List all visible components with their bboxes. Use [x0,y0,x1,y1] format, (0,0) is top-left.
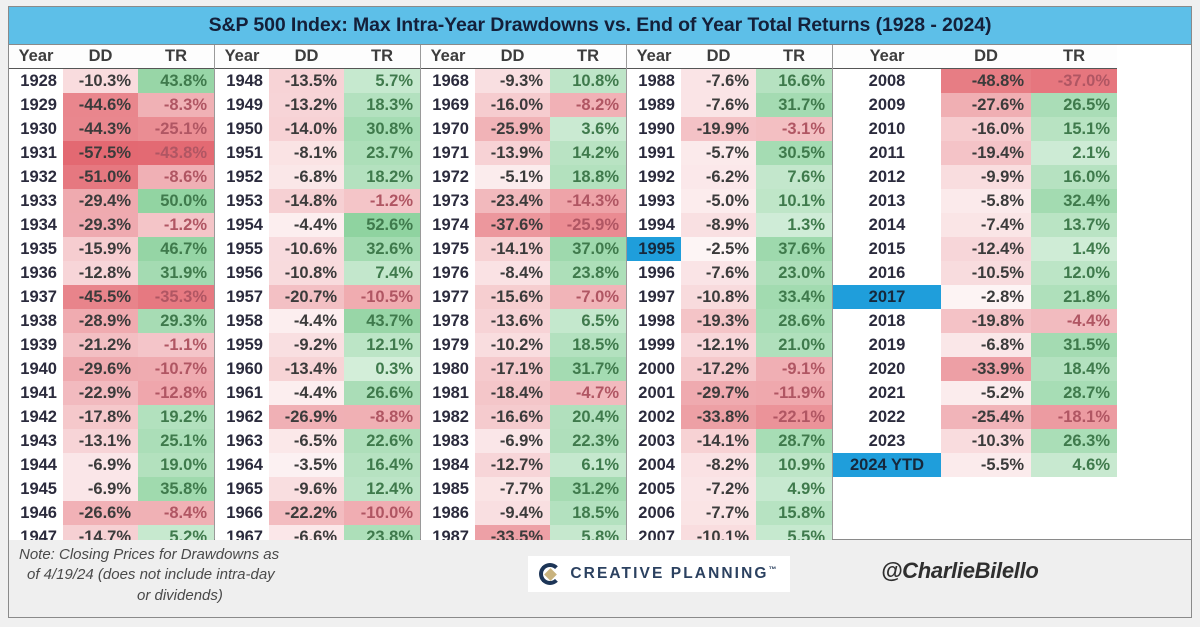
table-row[interactable]: 1952-6.8%18.2% [215,165,420,189]
year-cell: 1971 [421,141,475,165]
table-row[interactable]: 1938-28.9%29.3% [9,309,214,333]
table-row[interactable]: 1928-10.3%43.8% [9,69,214,93]
drawdown-cell: -15.9% [63,237,138,261]
table-row[interactable]: 2003-14.1%28.7% [627,429,832,453]
table-row[interactable]: 2006-7.7%15.8% [627,501,832,525]
total-return-cell: 1.3% [756,213,832,237]
year-cell: 1972 [421,165,475,189]
table-row[interactable]: 1997-10.8%33.4% [627,285,832,309]
year-cell: 2014 [833,213,941,237]
column-header-tr: TR [550,45,626,68]
year-cell: 2015 [833,237,941,261]
year-cell: 1985 [421,477,475,501]
table-row[interactable]: 1992-6.2%7.6% [627,165,832,189]
year-cell: 1991 [627,141,681,165]
table-row[interactable]: 1986-9.4%18.5% [421,501,626,525]
drawdown-cell: -4.4% [269,213,344,237]
drawdown-cell: -33.9% [941,357,1031,381]
table-row[interactable]: 1942-17.8%19.2% [9,405,214,429]
total-return-cell: 19.0% [138,453,214,477]
drawdown-cell: -29.6% [63,357,138,381]
total-return-cell: 16.0% [1031,165,1117,189]
drawdown-cell: -26.9% [269,405,344,429]
drawdown-cell: -13.1% [63,429,138,453]
table-row[interactable]: 1977-15.6%-7.0% [421,285,626,309]
drawdown-cell: -19.4% [941,141,1031,165]
drawdown-cell: -27.6% [941,93,1031,117]
drawdown-cell: -17.8% [63,405,138,429]
drawdown-cell: -12.8% [63,261,138,285]
column-header-dd: DD [63,45,138,68]
year-cell: 1999 [627,333,681,357]
table-row[interactable]: 1951-8.1%23.7% [215,141,420,165]
total-return-cell: 15.1% [1031,117,1117,141]
drawdown-cell: -19.9% [681,117,756,141]
total-return-cell: 31.5% [1031,333,1117,357]
year-cell: 1943 [9,429,63,453]
drawdown-cell: -6.9% [475,429,550,453]
table-row[interactable]: 2012-9.9%16.0% [833,165,1117,189]
year-cell: 1935 [9,237,63,261]
table-row[interactable]: 2004-8.2%10.9% [627,453,832,477]
drawdown-cell: -5.7% [681,141,756,165]
table-row[interactable]: 1958-4.4%43.7% [215,309,420,333]
table-row[interactable]: 1973-23.4%-14.3% [421,189,626,213]
drawdown-cell: -33.8% [681,405,756,429]
year-cell: 1988 [627,69,681,93]
table-row[interactable]: 1988-7.6%16.6% [627,69,832,93]
table-row[interactable]: 1980-17.1%31.7% [421,357,626,381]
year-cell: 1968 [421,69,475,93]
year-cell: 1950 [215,117,269,141]
table-header-row: YearDDTR [627,45,832,69]
table-row[interactable]: 1998-19.3%28.6% [627,309,832,333]
year-cell: 1973 [421,189,475,213]
page-title: S&P 500 Index: Max Intra-Year Drawdowns … [209,14,992,37]
total-return-cell: 37.0% [550,237,626,261]
table-row[interactable]: 2015-12.4%1.4% [833,237,1117,261]
table-row[interactable]: 2018-19.8%-4.4% [833,309,1117,333]
total-return-cell: 31.7% [756,93,832,117]
year-cell: 1986 [421,501,475,525]
table-row[interactable]: 1944-6.9%19.0% [9,453,214,477]
total-return-cell: -14.3% [550,189,626,213]
total-return-cell: 26.5% [1031,93,1117,117]
table-row[interactable]: 2017-2.8%21.8% [833,285,1117,309]
year-cell: 1953 [215,189,269,213]
drawdown-cell: -10.3% [63,69,138,93]
table-row[interactable]: 1970-25.9%3.6% [421,117,626,141]
table-row[interactable]: 2002-33.8%-22.1% [627,405,832,429]
table-row[interactable]: 1940-29.6%-10.7% [9,357,214,381]
table-row[interactable]: 1979-10.2%18.5% [421,333,626,357]
table-row[interactable]: 1962-26.9%-8.8% [215,405,420,429]
total-return-cell: 12.0% [1031,261,1117,285]
year-cell: 1998 [627,309,681,333]
table-row[interactable]: 2023-10.3%26.3% [833,429,1117,453]
table-row[interactable]: 2011-19.4%2.1% [833,141,1117,165]
creative-planning-logo-text: CREATIVE PLANNING™ [570,565,778,583]
year-cell: 1978 [421,309,475,333]
table-row[interactable]: 1985-7.7%31.2% [421,477,626,501]
drawdown-cell: -16.0% [475,93,550,117]
drawdown-cell: -5.8% [941,189,1031,213]
table-block: YearDDTR2008-48.8%-37.0%2009-27.6%26.5%2… [833,45,1117,539]
total-return-cell: 18.5% [550,501,626,525]
drawdown-cell: -5.5% [941,453,1031,477]
table-block: YearDDTR1968-9.3%10.8%1969-16.0%-8.2%197… [421,45,627,539]
year-cell: 1970 [421,117,475,141]
total-return-cell: -22.1% [756,405,832,429]
total-return-cell: 43.8% [138,69,214,93]
total-return-cell: -7.0% [550,285,626,309]
total-return-cell: 23.7% [344,141,420,165]
table-row[interactable]: 2021-5.2%28.7% [833,381,1117,405]
total-return-cell: 29.3% [138,309,214,333]
total-return-cell: 3.6% [550,117,626,141]
year-cell: 2023 [833,429,941,453]
year-cell: 1989 [627,93,681,117]
table-row[interactable]: 1945-6.9%35.8% [9,477,214,501]
year-cell: 1932 [9,165,63,189]
year-cell: 1938 [9,309,63,333]
year-cell: 1954 [215,213,269,237]
drawdown-cell: -14.8% [269,189,344,213]
total-return-cell: -1.2% [344,189,420,213]
table-row[interactable]: 1941-22.9%-12.8% [9,381,214,405]
total-return-cell: 21.8% [1031,285,1117,309]
table-row[interactable]: 1963-6.5%22.6% [215,429,420,453]
total-return-cell: 10.8% [550,69,626,93]
table-row[interactable]: 2024 YTD-5.5%4.6% [833,453,1117,477]
year-cell: 1966 [215,501,269,525]
total-return-cell: 14.2% [550,141,626,165]
total-return-cell: -9.1% [756,357,832,381]
total-return-cell: -35.3% [138,285,214,309]
total-return-cell: 50.0% [138,189,214,213]
year-cell: 1939 [9,333,63,357]
year-cell: 1996 [627,261,681,285]
column-header-year: Year [833,45,941,68]
table-row[interactable]: 1969-16.0%-8.2% [421,93,626,117]
drawdown-cell: -19.3% [681,309,756,333]
drawdown-cell: -29.4% [63,189,138,213]
drawdown-cell: -17.1% [475,357,550,381]
table-row[interactable]: 1995-2.5%37.6% [627,237,832,261]
column-header-tr: TR [756,45,832,68]
total-return-cell: 52.6% [344,213,420,237]
year-cell: 2020 [833,357,941,381]
year-cell: 2010 [833,117,941,141]
chart-title-bar: S&P 500 Index: Max Intra-Year Drawdowns … [8,6,1192,44]
drawdown-cell: -26.6% [63,501,138,525]
drawdown-cell: -45.5% [63,285,138,309]
drawdown-cell: -14.1% [681,429,756,453]
drawdown-cell: -22.9% [63,381,138,405]
year-cell: 1944 [9,453,63,477]
total-return-cell: 20.4% [550,405,626,429]
total-return-cell: 28.7% [1031,381,1117,405]
column-header-year: Year [627,45,681,68]
total-return-cell: 13.7% [1031,213,1117,237]
table-row[interactable]: 1934-29.3%-1.2% [9,213,214,237]
table-row[interactable]: 1959-9.2%12.1% [215,333,420,357]
year-cell: 2006 [627,501,681,525]
table-row[interactable]: 1936-12.8%31.9% [9,261,214,285]
chart-footer: Note: Closing Prices for Drawdowns as of… [8,540,1192,618]
drawdown-cell: -22.2% [269,501,344,525]
table-block: YearDDTR1988-7.6%16.6%1989-7.6%31.7%1990… [627,45,833,539]
table-row[interactable]: 2008-48.8%-37.0% [833,69,1117,93]
year-cell: 1946 [9,501,63,525]
table-row[interactable]: 2014-7.4%13.7% [833,213,1117,237]
total-return-cell: 19.2% [138,405,214,429]
total-return-cell: 18.5% [550,333,626,357]
table-row[interactable]: 1974-37.6%-25.9% [421,213,626,237]
year-cell: 1937 [9,285,63,309]
drawdown-cell: -9.6% [269,477,344,501]
drawdown-cell: -5.2% [941,381,1031,405]
table-row[interactable]: 1931-57.5%-43.8% [9,141,214,165]
total-return-cell: 23.0% [756,261,832,285]
drawdown-cell: -14.0% [269,117,344,141]
total-return-cell: -8.8% [344,405,420,429]
year-cell-highlighted: 1995 [627,237,681,261]
table-header-row: YearDDTR [833,45,1117,69]
total-return-cell: 43.7% [344,309,420,333]
drawdown-cell: -8.2% [681,453,756,477]
table-row[interactable]: 1982-16.6%20.4% [421,405,626,429]
table-row[interactable]: 1990-19.9%-3.1% [627,117,832,141]
year-cell: 1942 [9,405,63,429]
total-return-cell: 46.7% [138,237,214,261]
drawdown-cell: -12.1% [681,333,756,357]
table-row[interactable]: 1993-5.0%10.1% [627,189,832,213]
drawdown-cell: -25.4% [941,405,1031,429]
drawdown-cell: -16.6% [475,405,550,429]
year-cell: 1980 [421,357,475,381]
table-row[interactable]: 1960-13.4%0.3% [215,357,420,381]
drawdown-cell: -13.5% [269,69,344,93]
table-row[interactable]: 2013-5.8%32.4% [833,189,1117,213]
year-cell: 2001 [627,381,681,405]
year-cell: 2008 [833,69,941,93]
drawdown-cell: -7.6% [681,93,756,117]
year-cell: 2005 [627,477,681,501]
table-row[interactable]: 1991-5.7%30.5% [627,141,832,165]
table-row[interactable]: 2016-10.5%12.0% [833,261,1117,285]
trademark-mark: ™ [769,565,779,574]
year-cell: 1963 [215,429,269,453]
total-return-cell: 7.6% [756,165,832,189]
table-row[interactable]: 1978-13.6%6.5% [421,309,626,333]
table-row[interactable]: 1950-14.0%30.8% [215,117,420,141]
year-cell: 1964 [215,453,269,477]
total-return-cell: 6.5% [550,309,626,333]
table-row[interactable]: 2001-29.7%-11.9% [627,381,832,405]
drawdown-cell: -37.6% [475,213,550,237]
table-row[interactable]: 1972-5.1%18.8% [421,165,626,189]
block-filler [833,477,1117,539]
drawdown-cell: -8.4% [475,261,550,285]
total-return-cell: 23.8% [550,261,626,285]
table-row[interactable]: 1971-13.9%14.2% [421,141,626,165]
table-row[interactable]: 1933-29.4%50.0% [9,189,214,213]
table-row[interactable]: 1955-10.6%32.6% [215,237,420,261]
year-cell: 1948 [215,69,269,93]
drawdown-cell: -9.9% [941,165,1031,189]
table-row[interactable]: 1994-8.9%1.3% [627,213,832,237]
year-cell: 2019 [833,333,941,357]
table-row[interactable]: 1943-13.1%25.1% [9,429,214,453]
total-return-cell: 30.8% [344,117,420,141]
drawdown-cell: -3.5% [269,453,344,477]
year-cell: 1934 [9,213,63,237]
drawdown-cell: -10.8% [269,261,344,285]
table-row[interactable]: 1937-45.5%-35.3% [9,285,214,309]
table-row[interactable]: 1964-3.5%16.4% [215,453,420,477]
drawdown-cell: -48.8% [941,69,1031,93]
table-row[interactable]: 1976-8.4%23.8% [421,261,626,285]
total-return-cell: 18.2% [344,165,420,189]
creative-planning-mark-icon [539,563,561,585]
total-return-cell: 37.6% [756,237,832,261]
year-cell: 2002 [627,405,681,429]
drawdown-cell: -16.0% [941,117,1031,141]
year-cell-highlighted: 2024 YTD [833,453,941,477]
total-return-cell: 31.9% [138,261,214,285]
drawdown-cell: -13.9% [475,141,550,165]
table-row[interactable]: 1949-13.2%18.3% [215,93,420,117]
total-return-cell: 1.4% [1031,237,1117,261]
total-return-cell: -4.7% [550,381,626,405]
total-return-cell: 10.1% [756,189,832,213]
table-row[interactable]: 1946-26.6%-8.4% [9,501,214,525]
total-return-cell: -25.9% [550,213,626,237]
total-return-cell: 30.5% [756,141,832,165]
drawdown-cell: -10.3% [941,429,1031,453]
year-cell: 1936 [9,261,63,285]
drawdown-cell: -19.8% [941,309,1031,333]
table-row[interactable]: 1968-9.3%10.8% [421,69,626,93]
drawdown-cell: -7.7% [475,477,550,501]
table-row[interactable]: 2009-27.6%26.5% [833,93,1117,117]
table-row[interactable]: 1966-22.2%-10.0% [215,501,420,525]
table-row[interactable]: 1954-4.4%52.6% [215,213,420,237]
table-row[interactable]: 2019-6.8%31.5% [833,333,1117,357]
table-row[interactable]: 1948-13.5%5.7% [215,69,420,93]
table-row[interactable]: 1983-6.9%22.3% [421,429,626,453]
drawdown-cell: -4.4% [269,381,344,405]
drawdown-cell: -17.2% [681,357,756,381]
drawdown-cell: -9.3% [475,69,550,93]
total-return-cell: -1.2% [138,213,214,237]
year-cell: 2000 [627,357,681,381]
table-header-row: YearDDTR [9,45,214,69]
drawdown-cell: -7.7% [681,501,756,525]
drawdown-cell: -6.5% [269,429,344,453]
drawdown-cell: -2.8% [941,285,1031,309]
table-row[interactable]: 1984-12.7%6.1% [421,453,626,477]
column-header-year: Year [215,45,269,68]
year-cell: 2009 [833,93,941,117]
year-cell: 2011 [833,141,941,165]
year-cell: 1992 [627,165,681,189]
drawdown-cell: -14.1% [475,237,550,261]
year-cell: 1977 [421,285,475,309]
creative-planning-logo: CREATIVE PLANNING™ [528,556,790,592]
drawdown-cell: -20.7% [269,285,344,309]
table-row[interactable]: 1957-20.7%-10.5% [215,285,420,309]
table-row[interactable]: 1981-18.4%-4.7% [421,381,626,405]
drawdown-cell: -13.4% [269,357,344,381]
year-cell: 1951 [215,141,269,165]
total-return-cell: 10.9% [756,453,832,477]
year-cell: 1957 [215,285,269,309]
year-cell: 1956 [215,261,269,285]
table-row[interactable]: 1929-44.6%-8.3% [9,93,214,117]
table-row[interactable]: 2000-17.2%-9.1% [627,357,832,381]
table-row[interactable]: 1932-51.0%-8.6% [9,165,214,189]
table-row[interactable]: 2022-25.4%-18.1% [833,405,1117,429]
table-row[interactable]: 1975-14.1%37.0% [421,237,626,261]
year-cell: 1952 [215,165,269,189]
table-row[interactable]: 1953-14.8%-1.2% [215,189,420,213]
total-return-cell: 18.8% [550,165,626,189]
drawdown-cell: -7.6% [681,69,756,93]
column-header-dd: DD [475,45,550,68]
drawdown-cell: -23.4% [475,189,550,213]
table-row[interactable]: 1930-44.3%-25.1% [9,117,214,141]
year-cell: 1941 [9,381,63,405]
year-cell: 1929 [9,93,63,117]
year-cell: 1945 [9,477,63,501]
year-cell: 2003 [627,429,681,453]
table-row[interactable]: 1996-7.6%23.0% [627,261,832,285]
drawdown-cell: -9.2% [269,333,344,357]
table-row[interactable]: 1939-21.2%-1.1% [9,333,214,357]
table-row[interactable]: 1956-10.8%7.4% [215,261,420,285]
footnote: Note: Closing Prices for Drawdowns as of… [9,540,409,606]
table-row[interactable]: 1961-4.4%26.6% [215,381,420,405]
total-return-cell: -3.1% [756,117,832,141]
table-row[interactable]: 2005-7.2%4.9% [627,477,832,501]
total-return-cell: 16.6% [756,69,832,93]
total-return-cell: 22.6% [344,429,420,453]
year-cell: 1959 [215,333,269,357]
total-return-cell: 18.4% [1031,357,1117,381]
drawdown-cell: -6.2% [681,165,756,189]
year-cell: 1993 [627,189,681,213]
year-cell: 1931 [9,141,63,165]
year-cell: 2016 [833,261,941,285]
table-row[interactable]: 1989-7.6%31.7% [627,93,832,117]
drawdown-cell: -13.6% [475,309,550,333]
table-row[interactable]: 1999-12.1%21.0% [627,333,832,357]
drawdown-cell: -7.2% [681,477,756,501]
drawdown-cell: -6.9% [63,453,138,477]
table-block: YearDDTR1948-13.5%5.7%1949-13.2%18.3%195… [215,45,421,539]
table-row[interactable]: 2020-33.9%18.4% [833,357,1117,381]
drawdown-cell: -25.9% [475,117,550,141]
total-return-cell: -43.8% [138,141,214,165]
column-header-dd: DD [269,45,344,68]
drawdown-cell: -21.2% [63,333,138,357]
table-row[interactable]: 2010-16.0%15.1% [833,117,1117,141]
table-row[interactable]: 1935-15.9%46.7% [9,237,214,261]
table-row[interactable]: 1965-9.6%12.4% [215,477,420,501]
drawdown-cell: -6.9% [63,477,138,501]
